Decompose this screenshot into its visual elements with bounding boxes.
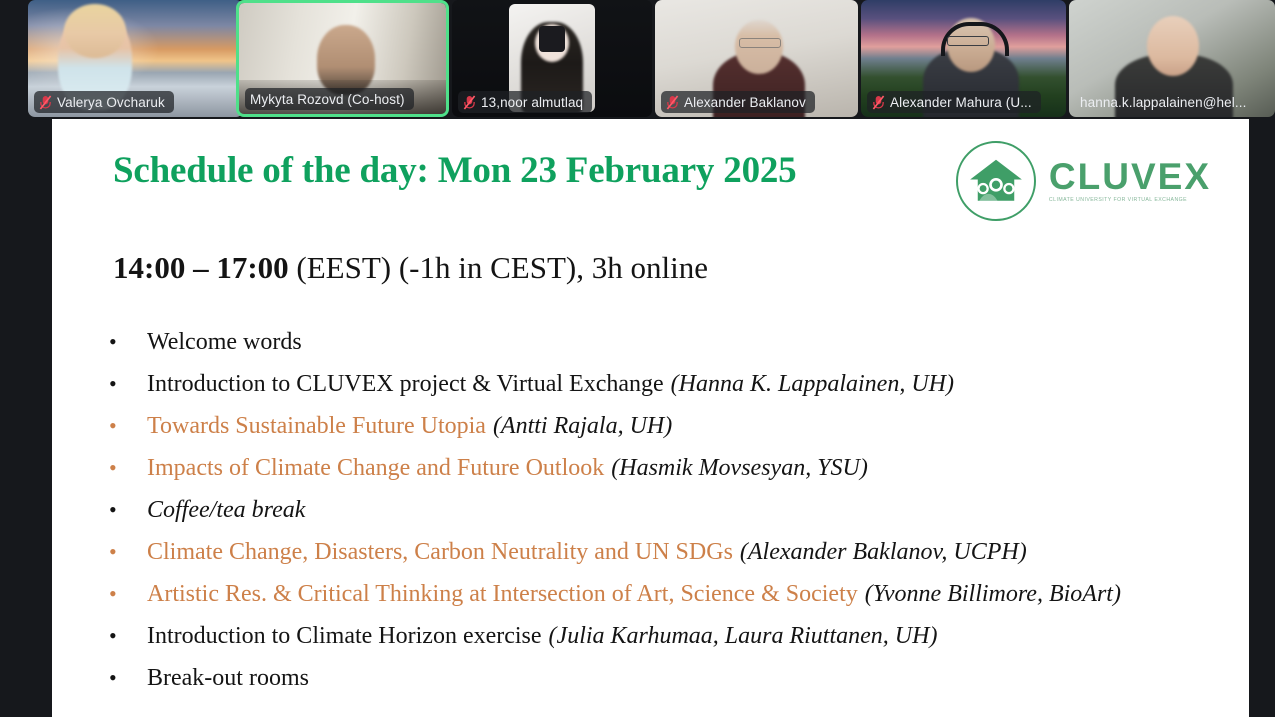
agenda-item: • Introduction to Climate Horizon exerci… — [109, 623, 1229, 665]
house-with-people-icon — [956, 141, 1036, 221]
page-title: Schedule of the day: Mon 23 February 202… — [113, 152, 796, 189]
agenda-item: • Break-out rooms — [109, 665, 1229, 707]
participant-name: 13,noor almutlaq — [481, 95, 583, 110]
session-time-rest: (EEST) (-1h in CEST), 3h online — [289, 250, 708, 285]
participant-name-badge: 13,noor almutlaq — [458, 91, 592, 113]
zoom-screen-share-window: Valerya Ovcharuk Mykyta Rozovd (Co-host) — [0, 0, 1275, 717]
video-tile-alexander-baklanov[interactable]: Alexander Baklanov — [655, 0, 858, 117]
cluvex-logo: CLUVEX CLIMATE UNIVERSITY FOR VIRTUAL EX… — [956, 141, 1211, 221]
bullet-icon: • — [109, 583, 147, 605]
bullet-icon: • — [109, 457, 147, 479]
video-tile-13-noor-almutlaq[interactable]: 13,noor almutlaq — [452, 0, 652, 117]
bullet-icon: • — [109, 541, 147, 563]
session-time-line: 14:00 – 17:00 (EEST) (-1h in CEST), 3h o… — [113, 250, 708, 286]
agenda-item-text: Climate Change, Disasters, Carbon Neutra… — [147, 539, 733, 566]
house-with-people-glyph — [958, 143, 1034, 219]
participant-name-badge: Alexander Baklanov — [661, 91, 815, 113]
bullet-icon: • — [109, 667, 147, 689]
cluvex-tagline: CLIMATE UNIVERSITY FOR VIRTUAL EXCHANGE — [1049, 197, 1211, 203]
shared-slide: Schedule of the day: Mon 23 February 202… — [52, 119, 1249, 717]
cluvex-wordmark-group: CLUVEX CLIMATE UNIVERSITY FOR VIRTUAL EX… — [1049, 159, 1211, 202]
video-tile-alexander-mahura[interactable]: Alexander Mahura (U... — [861, 0, 1066, 117]
cluvex-wordmark: CLUVEX — [1049, 159, 1211, 194]
agenda-item: • Impacts of Climate Change and Future O… — [109, 455, 1229, 497]
participant-video-strip: Valerya Ovcharuk Mykyta Rozovd (Co-host) — [0, 0, 1275, 117]
bullet-icon: • — [109, 331, 147, 353]
agenda-item: • Climate Change, Disasters, Carbon Neut… — [109, 539, 1229, 581]
video-tile-mykyta-rozovd[interactable]: Mykyta Rozovd (Co-host) — [236, 0, 449, 117]
participant-name-badge: hanna.k.lappalainen@hel... — [1075, 91, 1255, 113]
participant-name-badge: Mykyta Rozovd (Co-host) — [245, 88, 414, 110]
agenda-item-speaker: (Antti Rajala, UH) — [486, 413, 672, 440]
agenda-item: • Coffee/tea break — [109, 497, 1229, 539]
participant-name-badge: Valerya Ovcharuk — [34, 91, 174, 113]
agenda-item-text: Introduction to CLUVEX project & Virtual… — [147, 371, 664, 398]
microphone-muted-icon — [872, 95, 885, 110]
participant-name: Valerya Ovcharuk — [57, 95, 165, 110]
agenda-item-text: Coffee/tea break — [147, 497, 305, 524]
microphone-muted-icon — [666, 95, 679, 110]
participant-name: hanna.k.lappalainen@hel... — [1080, 95, 1246, 110]
video-tile-hanna-lappalainen[interactable]: hanna.k.lappalainen@hel... — [1069, 0, 1275, 117]
agenda-item-text: Break-out rooms — [147, 665, 309, 692]
bullet-icon: • — [109, 373, 147, 395]
agenda-item: • Artistic Res. & Critical Thinking at I… — [109, 581, 1229, 623]
agenda-item: • Introduction to CLUVEX project & Virtu… — [109, 371, 1229, 413]
agenda-item-speaker: (Alexander Baklanov, UCPH) — [733, 539, 1027, 566]
participant-name: Mykyta Rozovd (Co-host) — [250, 92, 405, 107]
agenda-item-speaker: (Julia Karhumaa, Laura Riuttanen, UH) — [542, 623, 938, 650]
participant-name: Alexander Baklanov — [684, 95, 806, 110]
bullet-icon: • — [109, 415, 147, 437]
agenda-item-speaker: (Hanna K. Lappalainen, UH) — [664, 371, 954, 398]
video-tile-valerya-ovcharuk[interactable]: Valerya Ovcharuk — [28, 0, 243, 117]
agenda-item: • Welcome words — [109, 329, 1229, 371]
participant-name-badge: Alexander Mahura (U... — [867, 91, 1041, 113]
microphone-muted-icon — [39, 95, 52, 110]
agenda-item-speaker: (Hasmik Movsesyan, YSU) — [604, 455, 868, 482]
agenda-item: • Towards Sustainable Future Utopia (Ant… — [109, 413, 1229, 455]
bullet-icon: • — [109, 499, 147, 521]
agenda-item-text: Welcome words — [147, 329, 302, 356]
bullet-icon: • — [109, 625, 147, 647]
agenda-item-text: Artistic Res. & Critical Thinking at Int… — [147, 581, 858, 608]
microphone-muted-icon — [463, 95, 476, 110]
participant-name: Alexander Mahura (U... — [890, 95, 1032, 110]
agenda-item-text: Impacts of Climate Change and Future Out… — [147, 455, 604, 482]
agenda-item-text: Towards Sustainable Future Utopia — [147, 413, 486, 440]
agenda-item-text: Introduction to Climate Horizon exercise — [147, 623, 542, 650]
agenda-item-speaker: (Yvonne Billimore, BioArt) — [858, 581, 1121, 608]
session-time-bold: 14:00 – 17:00 — [113, 250, 289, 285]
agenda-list: • Welcome words • Introduction to CLUVEX… — [109, 329, 1229, 707]
